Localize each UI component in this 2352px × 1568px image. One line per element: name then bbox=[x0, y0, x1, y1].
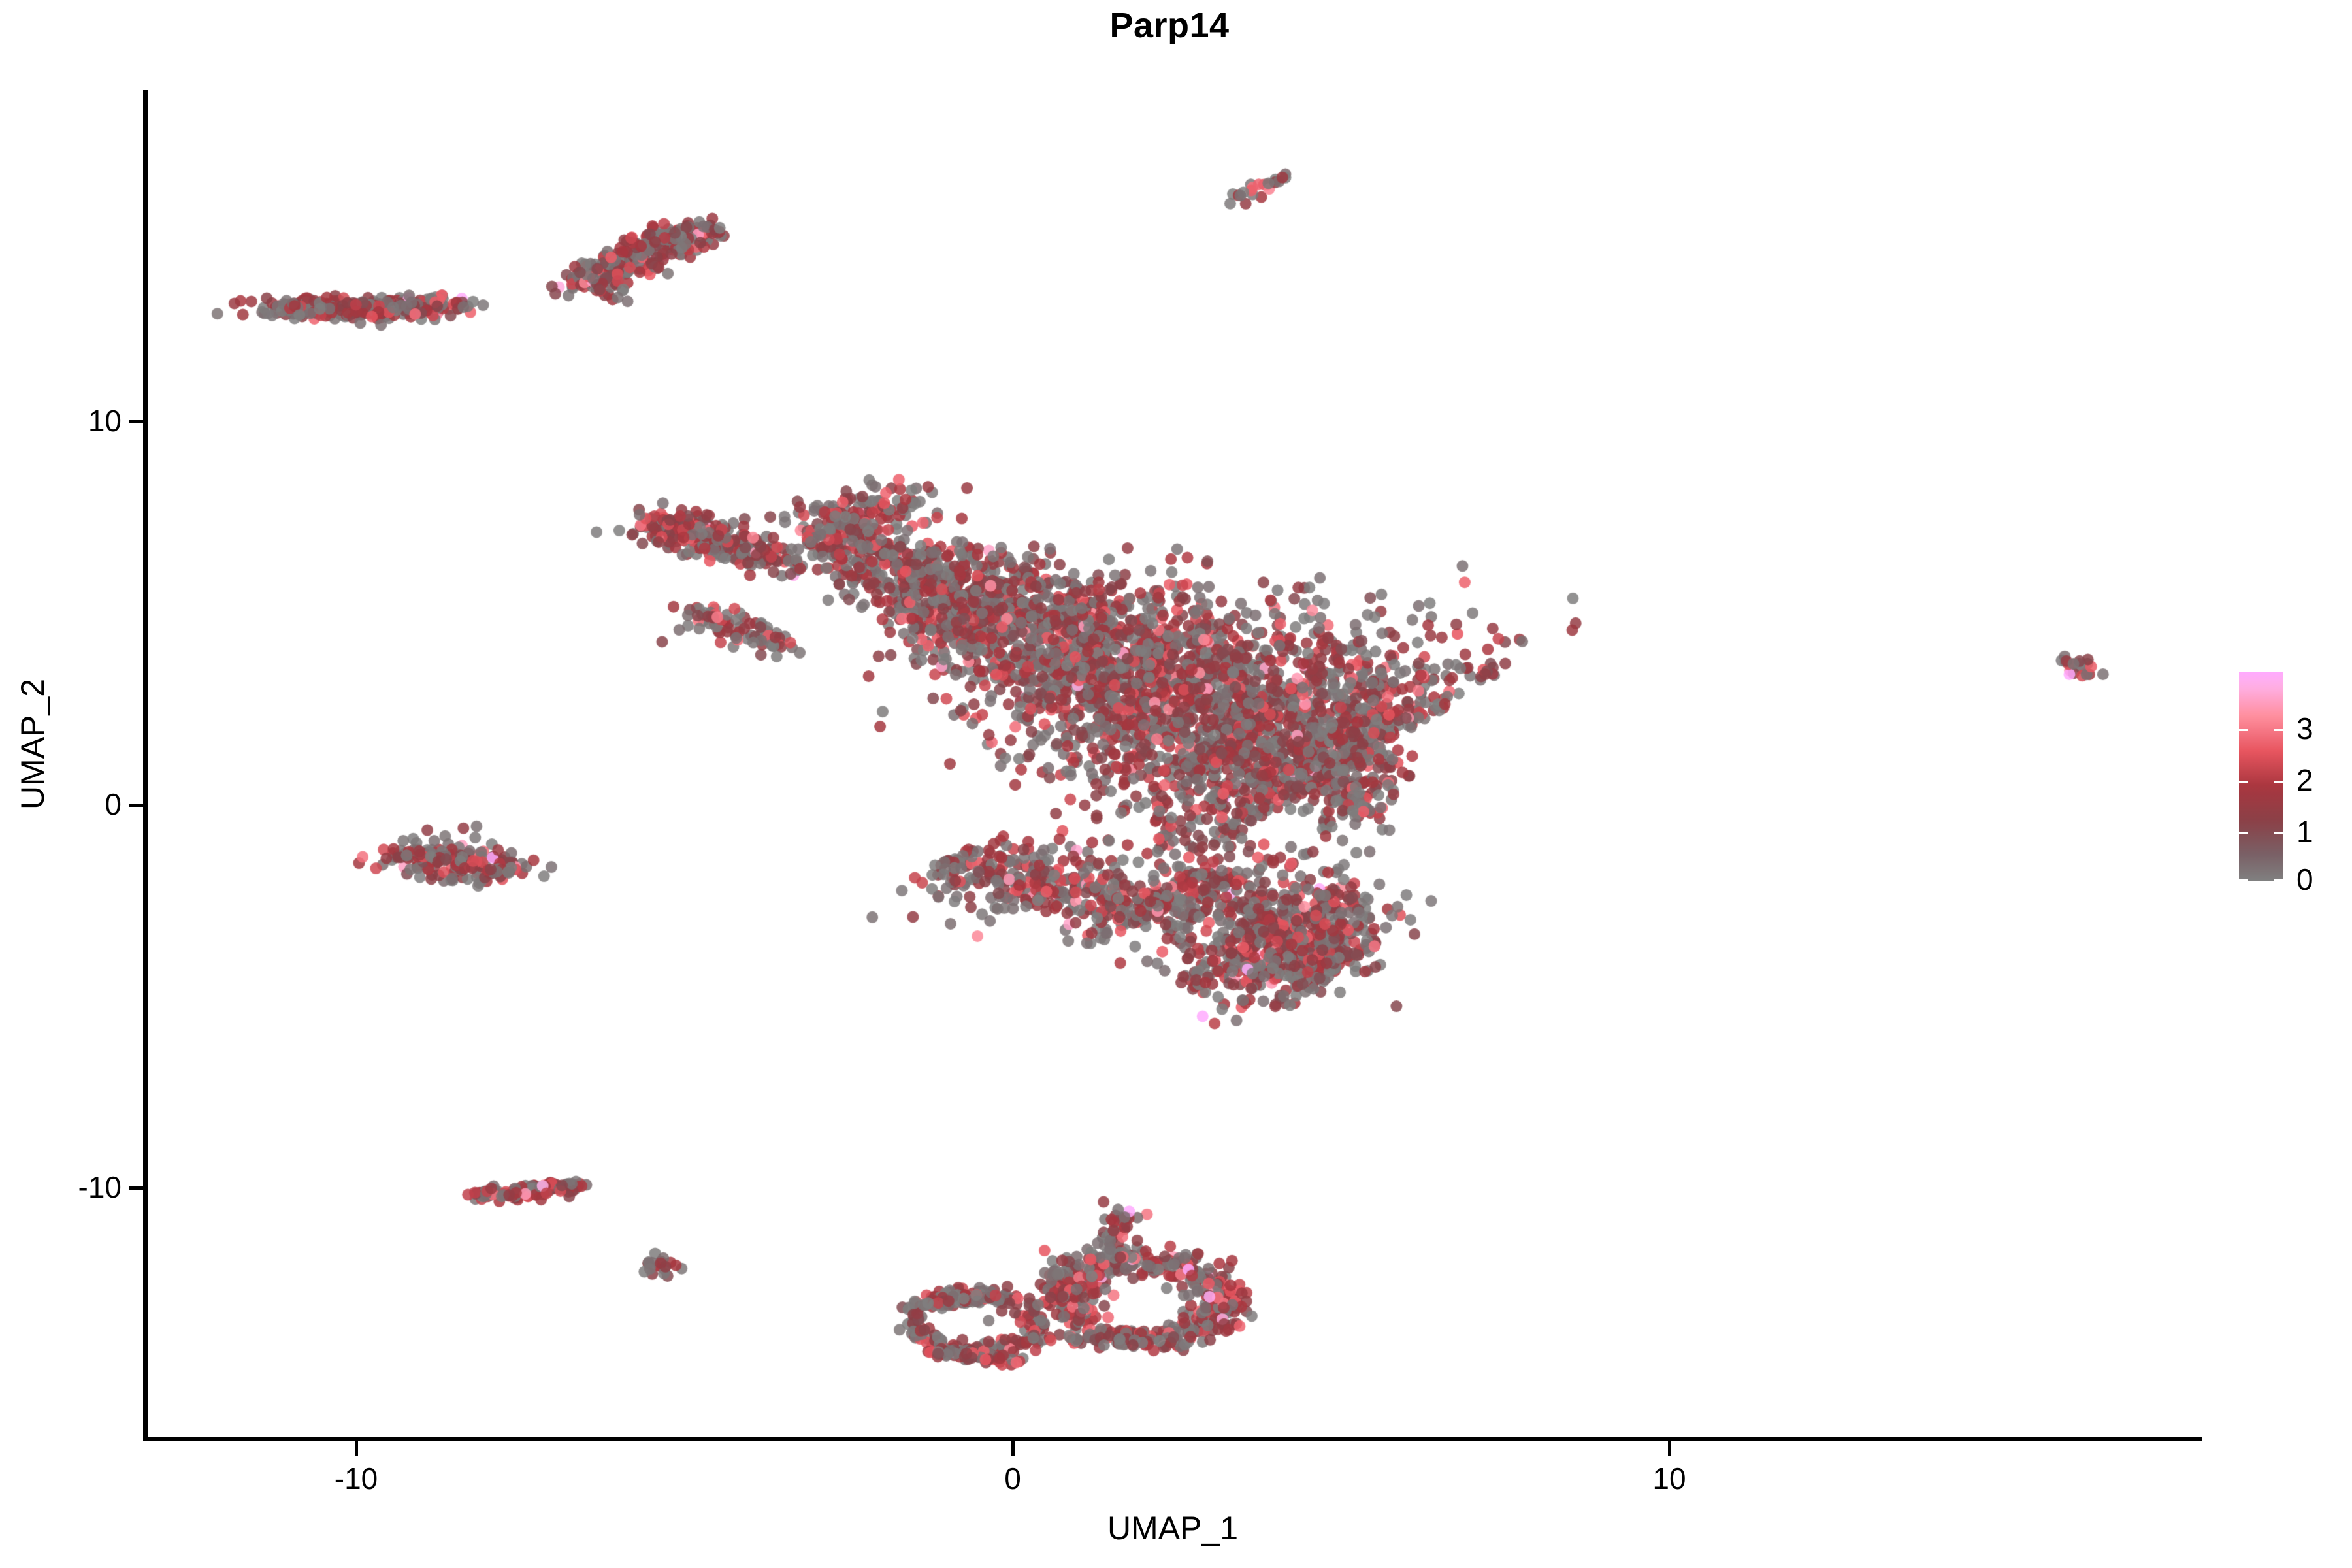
color-legend: 3 2 1 0 bbox=[2239, 672, 2337, 887]
y-axis-line bbox=[143, 90, 148, 1441]
x-tick-label-neg10: -10 bbox=[278, 1461, 434, 1496]
colorbar-label-2: 2 bbox=[2296, 765, 2313, 795]
y-tick-label-neg10: -10 bbox=[0, 1169, 122, 1205]
x-tick-mark-0 bbox=[1011, 1441, 1015, 1456]
colorbar-tick-3 bbox=[2239, 729, 2283, 731]
y-tick-mark-0 bbox=[129, 804, 143, 807]
colorbar-label-0: 0 bbox=[2296, 864, 2313, 894]
y-tick-label-10: 10 bbox=[0, 403, 122, 438]
page-title: Parp14 bbox=[0, 5, 2339, 46]
colorbar-label-1: 1 bbox=[2296, 817, 2313, 847]
y-tick-mark-10 bbox=[129, 420, 143, 423]
colorbar-gradient bbox=[2239, 672, 2283, 881]
x-tick-mark-neg10 bbox=[355, 1441, 358, 1456]
colorbar-tick-2 bbox=[2239, 781, 2283, 783]
x-axis-line bbox=[143, 1437, 2202, 1441]
y-tick-mark-neg10 bbox=[129, 1186, 143, 1190]
x-tick-mark-10 bbox=[1668, 1441, 1671, 1456]
colorbar-tick-0 bbox=[2239, 879, 2283, 881]
colorbar-tick-1 bbox=[2239, 832, 2283, 834]
x-axis-title: UMAP_1 bbox=[143, 1509, 2202, 1547]
y-axis-title: UMAP_2 bbox=[14, 613, 52, 875]
umap-feature-plot: Parp14 -10 0 10 10 0 -10 UMAP_1 UMAP_2 3… bbox=[0, 0, 2352, 1568]
scatter-plot-canvas bbox=[0, 0, 2352, 1568]
colorbar-label-3: 3 bbox=[2296, 713, 2313, 743]
x-tick-label-0: 0 bbox=[934, 1461, 1091, 1496]
x-tick-label-10: 10 bbox=[1591, 1461, 1748, 1496]
